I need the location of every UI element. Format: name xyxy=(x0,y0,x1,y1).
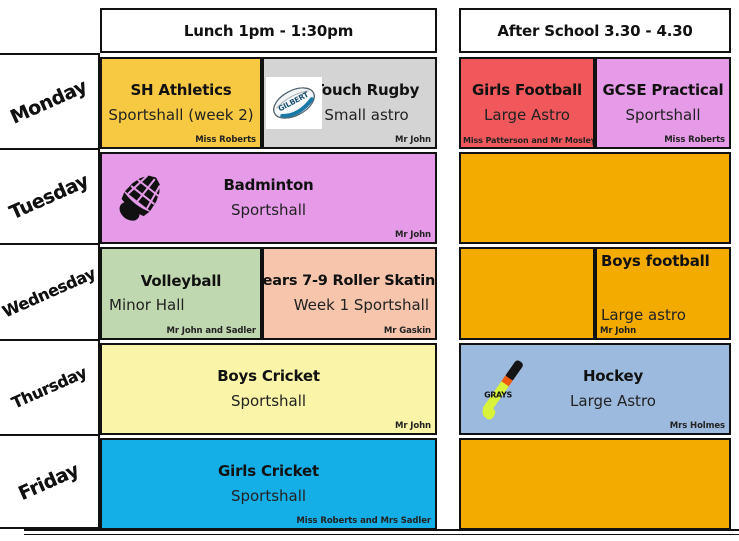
header-after-school: After School 3.30 - 4.30 xyxy=(459,8,731,53)
header-lunch-label: Lunch 1pm - 1:30pm xyxy=(184,22,353,40)
day-label-thursday: Thursday xyxy=(9,363,90,413)
session-wednesday-lunch-1[interactable]: Volleyball Minor Hall Mr John and Sadler xyxy=(100,247,262,340)
session-tuesday-after-1[interactable] xyxy=(459,152,731,244)
session-venue: Sportshall xyxy=(231,201,306,219)
day-label-monday: Monday xyxy=(7,75,90,128)
session-venue: Week 1 Sportshall xyxy=(294,296,429,314)
rugby-ball-icon: GILBERT xyxy=(266,77,322,129)
day-label-friday: Friday xyxy=(16,459,83,505)
session-title: GCSE Practical xyxy=(603,82,724,99)
session-teacher: Miss Roberts and Mrs Sadler xyxy=(296,516,431,526)
session-wednesday-after-2[interactable]: Boys football Large astro Mr John xyxy=(595,247,731,340)
session-venue: Sportshall xyxy=(231,487,306,505)
session-tuesday-lunch-1[interactable]: Badminton Sportshall Mr John xyxy=(100,152,437,244)
session-venue: Large astro xyxy=(601,306,686,324)
session-title: Girls Cricket xyxy=(218,463,319,480)
session-friday-lunch-1[interactable]: Girls Cricket Sportshall Miss Roberts an… xyxy=(100,438,437,530)
session-wednesday-after-1[interactable] xyxy=(459,247,595,340)
session-teacher: Mr John xyxy=(395,230,431,240)
session-venue: Large Astro xyxy=(570,392,656,410)
session-venue: Sportshall xyxy=(231,392,306,410)
svg-text:GRAYS: GRAYS xyxy=(484,391,512,400)
session-title: Boys Cricket xyxy=(217,368,320,385)
session-title: Badminton xyxy=(223,177,313,194)
session-venue: Small astro xyxy=(324,106,408,124)
session-friday-after-1[interactable] xyxy=(459,438,731,530)
day-row-tuesday: Tuesday xyxy=(0,148,100,243)
timetable-sheet: Lunch 1pm - 1:30pm After School 3.30 - 4… xyxy=(0,0,739,541)
day-row-thursday: Thursday xyxy=(0,339,100,434)
shuttlecock-icon xyxy=(110,168,170,228)
session-title: Hockey xyxy=(583,368,643,385)
session-wednesday-lunch-2[interactable]: Years 7-9 Roller Skating Week 1 Sportsha… xyxy=(262,247,437,340)
day-row-monday: Monday xyxy=(0,53,100,148)
session-teacher: Miss Roberts xyxy=(664,135,725,145)
session-title: SH Athletics xyxy=(130,82,231,99)
session-title: Volleyball xyxy=(141,273,221,290)
day-label-tuesday: Tuesday xyxy=(6,169,92,223)
session-thursday-lunch-1[interactable]: Boys Cricket Sportshall Mr John xyxy=(100,343,437,435)
session-monday-lunch-1[interactable]: SH Athletics Sportshall (week 2) Miss Ro… xyxy=(100,57,262,149)
session-title: Boys football xyxy=(601,253,710,270)
session-teacher: Mrs Holmes xyxy=(670,421,725,431)
day-label-wednesday: Wednesday xyxy=(0,263,98,321)
session-venue: Sportshall xyxy=(625,106,700,124)
session-venue: Large Astro xyxy=(484,106,570,124)
header-lunch: Lunch 1pm - 1:30pm xyxy=(100,8,437,53)
header-after-school-label: After School 3.30 - 4.30 xyxy=(497,22,692,40)
session-teacher: Mr John xyxy=(395,135,431,145)
session-teacher: Mr John and Sadler xyxy=(166,326,256,336)
session-teacher: Mr John xyxy=(395,421,431,431)
session-venue: Sportshall (week 2) xyxy=(108,106,253,124)
session-teacher: Miss Roberts xyxy=(195,135,256,145)
hockey-stick-icon: GRAYS xyxy=(465,352,539,426)
bottom-rule-2 xyxy=(24,534,739,535)
session-thursday-after-1[interactable]: GRAYS Hockey Large Astro Mrs Holmes xyxy=(459,343,731,435)
session-teacher: Miss Patterson and Mr Mosley xyxy=(463,136,595,145)
session-title: Touch Rugby xyxy=(314,82,419,99)
day-row-wednesday: Wednesday xyxy=(0,243,100,339)
session-venue: Minor Hall xyxy=(109,296,185,314)
session-monday-after-2[interactable]: GCSE Practical Sportshall Miss Roberts xyxy=(595,57,731,149)
session-title: Years 7-9 Roller Skating xyxy=(262,273,437,290)
session-monday-after-1[interactable]: Girls Football Large Astro Miss Patterso… xyxy=(459,57,595,149)
session-teacher: Mr John xyxy=(600,326,636,336)
session-monday-lunch-2[interactable]: GILBERT Touch Rugby Small astro Mr John xyxy=(262,57,437,149)
session-title: Girls Football xyxy=(472,82,582,99)
day-row-friday: Friday xyxy=(0,434,100,529)
session-teacher: Mr Gaskin xyxy=(384,326,431,336)
